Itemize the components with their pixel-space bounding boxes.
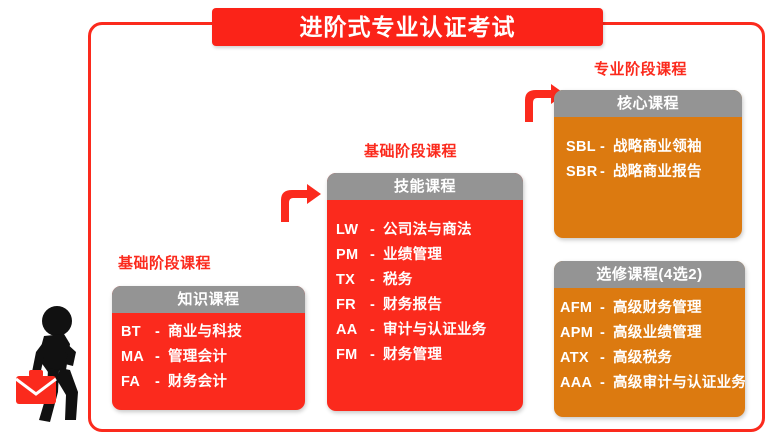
course-row: AFM-高级财务管理 [560, 296, 745, 321]
course-code: LW [336, 218, 370, 243]
card-body-core: SBL-战略商业领袖 SBR-战略商业报告 [554, 117, 742, 193]
course-dash: - [370, 268, 383, 293]
course-name: 财务报告 [383, 297, 442, 313]
course-code: MA [121, 345, 155, 370]
walking-person-with-briefcase-icon [14, 300, 100, 428]
course-name: 高级业绩管理 [613, 325, 702, 341]
card-elective-courses[interactable]: 选修课程(4选2) AFM-高级财务管理 APM-高级业绩管理 ATX-高级税务… [554, 261, 745, 417]
course-row: AA-审计与认证业务 [336, 318, 523, 343]
course-code: AAA [560, 371, 600, 396]
course-row: ATX-高级税务 [560, 346, 745, 371]
course-dash: - [155, 320, 168, 345]
course-row: FR-财务报告 [336, 293, 523, 318]
course-code: BT [121, 320, 155, 345]
course-dash: - [600, 346, 613, 371]
course-dash: - [155, 370, 168, 395]
course-code: SBL [566, 135, 600, 160]
page-title-banner: 进阶式专业认证考试 [212, 8, 603, 46]
course-dash: - [370, 243, 383, 268]
course-name: 战略商业报告 [613, 164, 702, 180]
card-body-skills: LW-公司法与商法 PM-业绩管理 TX-税务 FR-财务报告 AA-审计与认证… [327, 200, 523, 376]
course-code: FA [121, 370, 155, 395]
course-row: SBL-战略商业领袖 [566, 135, 742, 160]
course-dash: - [600, 296, 613, 321]
course-row: PM-业绩管理 [336, 243, 523, 268]
course-dash: - [370, 318, 383, 343]
card-core-courses[interactable]: 核心课程 SBL-战略商业领袖 SBR-战略商业报告 [554, 90, 742, 238]
course-row: LW-公司法与商法 [336, 218, 523, 243]
card-skills-courses[interactable]: 技能课程 LW-公司法与商法 PM-业绩管理 TX-税务 FR-财务报告 AA-… [327, 173, 523, 411]
stage-label-foundation-skills: 基础阶段课程 [364, 140, 457, 161]
course-name: 高级税务 [613, 350, 672, 366]
course-dash: - [370, 293, 383, 318]
card-header-core: 核心课程 [554, 90, 742, 117]
course-row: FM-财务管理 [336, 343, 523, 368]
course-name: 财务会计 [168, 374, 227, 390]
course-code: AFM [560, 296, 600, 321]
course-code: SBR [566, 160, 600, 185]
course-name: 商业与科技 [168, 324, 242, 340]
course-name: 审计与认证业务 [383, 322, 487, 338]
course-name: 税务 [383, 272, 413, 288]
course-row: FA-财务会计 [121, 370, 305, 395]
course-name: 高级财务管理 [613, 300, 702, 316]
card-body-knowledge: BT-商业与科技 MA-管理会计 FA-财务会计 [112, 313, 305, 403]
course-row: APM-高级业绩管理 [560, 321, 745, 346]
course-name: 业绩管理 [383, 247, 442, 263]
card-header-knowledge: 知识课程 [112, 286, 305, 313]
course-code: AA [336, 318, 370, 343]
page-title: 进阶式专业认证考试 [300, 16, 516, 39]
course-dash: - [600, 371, 613, 396]
course-code: TX [336, 268, 370, 293]
course-dash: - [155, 345, 168, 370]
card-knowledge-courses[interactable]: 知识课程 BT-商业与科技 MA-管理会计 FA-财务会计 [112, 286, 305, 410]
card-header-elective: 选修课程(4选2) [554, 261, 745, 288]
course-name: 公司法与商法 [383, 222, 472, 238]
course-name: 高级审计与认证业务 [613, 375, 745, 391]
course-name: 管理会计 [168, 349, 227, 365]
course-code: FM [336, 343, 370, 368]
course-name: 财务管理 [383, 347, 442, 363]
course-row: SBR-战略商业报告 [566, 160, 742, 185]
course-row: TX-税务 [336, 268, 523, 293]
curved-arrow-up-right-icon [277, 184, 321, 222]
course-code: APM [560, 321, 600, 346]
course-row: BT-商业与科技 [121, 320, 305, 345]
course-row: AAA-高级审计与认证业务 [560, 371, 745, 396]
course-dash: - [600, 160, 613, 185]
card-body-elective: AFM-高级财务管理 APM-高级业绩管理 ATX-高级税务 AAA-高级审计与… [554, 288, 745, 404]
course-dash: - [600, 321, 613, 346]
course-dash: - [370, 218, 383, 243]
card-header-skills: 技能课程 [327, 173, 523, 200]
course-dash: - [370, 343, 383, 368]
course-code: PM [336, 243, 370, 268]
course-dash: - [600, 135, 613, 160]
diagram-canvas: 进阶式专业认证考试 基础阶段课程 基础阶段课程 专业阶段课程 知识课程 BT-商… [0, 0, 783, 444]
stage-label-foundation-knowledge: 基础阶段课程 [118, 252, 211, 273]
course-name: 战略商业领袖 [613, 139, 702, 155]
stage-label-professional: 专业阶段课程 [594, 58, 687, 79]
course-code: ATX [560, 346, 600, 371]
course-code: FR [336, 293, 370, 318]
course-row: MA-管理会计 [121, 345, 305, 370]
